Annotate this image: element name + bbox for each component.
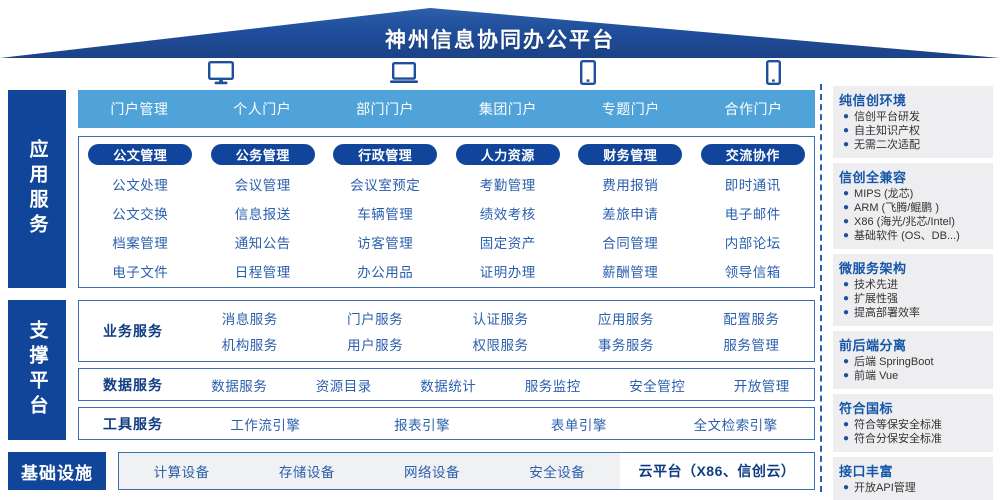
app-item[interactable]: 固定资产: [480, 232, 536, 252]
feature-item-label: 无需二次适配: [854, 138, 920, 152]
app-category-pill[interactable]: 财务管理: [578, 144, 682, 165]
app-item[interactable]: 薪酬管理: [602, 261, 658, 281]
infra-cell-cloud-platform[interactable]: 云平台（X86、信创云）: [620, 453, 814, 489]
rail-infrastructure-label: 基础设施: [21, 459, 93, 484]
feature-item-label: 技术先进: [854, 278, 898, 292]
support-cell[interactable]: 资源目录: [292, 372, 397, 398]
support-cell-line: 消息服务 门户服务 认证服务 应用服务 配置服务: [187, 305, 814, 331]
bullet-icon: ●: [843, 292, 849, 306]
feature-item-label: 符合分保安全标准: [854, 432, 942, 446]
portal-bar: 门户管理 个人门户 部门门户 集团门户 专题门户 合作门户: [78, 90, 815, 128]
feature-item: ●后端 SpringBoot: [839, 355, 987, 369]
feature-item-label: 前端 Vue: [854, 369, 898, 383]
feature-item-label: 开放API管理: [854, 481, 916, 495]
support-cell[interactable]: 消息服务: [187, 305, 312, 331]
feature-item-label: 提高部署效率: [854, 306, 920, 320]
support-cell[interactable]: 数据统计: [396, 372, 501, 398]
app-item[interactable]: 档案管理: [112, 232, 168, 252]
app-item[interactable]: 信息报送: [235, 203, 291, 223]
bullet-icon: ●: [843, 110, 849, 124]
app-item[interactable]: 办公用品: [357, 261, 413, 281]
support-cell[interactable]: 用户服务: [312, 331, 437, 357]
feature-block-1: 信创全兼容 ●MIPS (龙芯) ●ARM (飞腾/鲲鹏 ) ●X86 (海光/…: [833, 163, 993, 249]
app-item[interactable]: 考勤管理: [480, 174, 536, 194]
bullet-icon: ●: [843, 201, 849, 215]
tablet-icon: [580, 60, 596, 90]
app-item[interactable]: 会议室预定: [350, 174, 420, 194]
feature-item-label: 基础软件 (OS、DB...): [854, 229, 960, 243]
feature-item-label: 信创平台研发: [854, 110, 920, 124]
app-column-0: 公文管理 公文处理 公文交换 档案管理 电子文件: [79, 137, 202, 287]
dashed-divider: [820, 84, 822, 492]
feature-block-4: 符合国标 ●符合等保安全标准 ●符合分保安全标准: [833, 394, 993, 452]
support-row-business-services: 业务服务 消息服务 门户服务 认证服务 应用服务 配置服务 机构服务 用户服务 …: [78, 300, 815, 362]
support-cell[interactable]: 认证服务: [438, 305, 563, 331]
support-cell[interactable]: 机构服务: [187, 331, 312, 357]
portal-item-0[interactable]: 门户管理: [78, 99, 201, 119]
support-cell-line: 数据服务 资源目录 数据统计 服务监控 安全管控 开放管理: [187, 372, 814, 398]
rail-support-platform-label: 支撑平台: [24, 320, 51, 420]
feature-item: ●提高部署效率: [839, 306, 987, 320]
app-category-pill[interactable]: 行政管理: [333, 144, 437, 165]
rail-infrastructure: 基础设施: [8, 452, 106, 490]
infra-cell-storage[interactable]: 存储设备: [244, 453, 369, 489]
feature-item: ●符合等保安全标准: [839, 418, 987, 432]
infra-cell-network[interactable]: 网络设备: [369, 453, 494, 489]
feature-panel: 纯信创环境 ●信创平台研发 ●自主知识产权 ●无需二次适配 信创全兼容 ●MIP…: [833, 86, 993, 500]
support-row-tool-services: 工具服务 工作流引擎 报表引擎 表单引擎 全文检索引擎: [78, 407, 815, 440]
bullet-icon: ●: [843, 138, 849, 152]
support-cell[interactable]: 服务管理: [689, 331, 814, 357]
phone-icon: [766, 60, 781, 90]
feature-item: ●信创平台研发: [839, 110, 987, 124]
feature-title: 前后端分离: [839, 335, 987, 354]
support-cell[interactable]: 事务服务: [563, 331, 688, 357]
feature-title: 接口丰富: [839, 461, 987, 480]
app-item[interactable]: 公文交换: [112, 203, 168, 223]
bullet-icon: ●: [843, 481, 849, 495]
support-row-label: 数据服务: [79, 375, 187, 395]
feature-item: ●前端 Vue: [839, 369, 987, 383]
feature-item-label: ARM (飞腾/鲲鹏 ): [854, 201, 939, 215]
feature-item: ●无需二次适配: [839, 138, 987, 152]
app-item[interactable]: 差旅申请: [602, 203, 658, 223]
feature-title: 符合国标: [839, 398, 987, 417]
feature-title: 纯信创环境: [839, 90, 987, 109]
feature-item-label: 符合等保安全标准: [854, 418, 942, 432]
app-category-pill[interactable]: 公文管理: [88, 144, 192, 165]
support-row-cells: 工作流引擎 报表引擎 表单引擎 全文检索引擎: [187, 411, 814, 437]
support-cell[interactable]: 服务监控: [501, 372, 606, 398]
title-banner: 神州信息协同办公平台: [0, 8, 1000, 58]
support-cell[interactable]: 门户服务: [312, 305, 437, 331]
app-item[interactable]: 即时通讯: [725, 174, 781, 194]
feature-item: ●X86 (海光/兆芯/Intel): [839, 215, 987, 229]
infra-cell-security[interactable]: 安全设备: [495, 453, 620, 489]
portal-item-5[interactable]: 合作门户: [692, 99, 815, 119]
support-cell[interactable]: 报表引擎: [344, 411, 501, 437]
rail-application-services-label: 应用服务: [24, 139, 51, 239]
feature-block-5: 接口丰富 ●开放API管理: [833, 457, 993, 500]
app-item[interactable]: 访客管理: [357, 232, 413, 252]
bullet-icon: ●: [843, 124, 849, 138]
support-cell[interactable]: 配置服务: [689, 305, 814, 331]
app-item[interactable]: 费用报销: [602, 174, 658, 194]
app-item[interactable]: 会议管理: [235, 174, 291, 194]
rail-support-platform: 支撑平台: [8, 300, 66, 440]
infrastructure-row: 计算设备 存储设备 网络设备 安全设备 云平台（X86、信创云）: [118, 452, 815, 490]
app-item[interactable]: 电子文件: [112, 261, 168, 281]
feature-item-label: 自主知识产权: [854, 124, 920, 138]
app-item[interactable]: 车辆管理: [357, 203, 413, 223]
app-category-pill[interactable]: 人力资源: [456, 144, 560, 165]
app-column-5: 交流协作 即时通讯 电子邮件 内部论坛 领导信箱: [692, 137, 815, 287]
feature-block-0: 纯信创环境 ●信创平台研发 ●自主知识产权 ●无需二次适配: [833, 86, 993, 158]
app-item[interactable]: 合同管理: [602, 232, 658, 252]
architecture-diagram: 神州信息协同办公平台: [0, 0, 1000, 500]
app-item[interactable]: 内部论坛: [725, 232, 781, 252]
support-row-cells: 消息服务 门户服务 认证服务 应用服务 配置服务 机构服务 用户服务 权限服务 …: [187, 305, 814, 357]
bullet-icon: ●: [843, 418, 849, 432]
feature-item: ●开放API管理: [839, 481, 987, 495]
support-cell[interactable]: 工作流引擎: [187, 411, 344, 437]
app-category-pill[interactable]: 交流协作: [701, 144, 805, 165]
page-title: 神州信息协同办公平台: [0, 24, 1000, 54]
feature-item: ●符合分保安全标准: [839, 432, 987, 446]
app-item[interactable]: 电子邮件: [725, 203, 781, 223]
app-column-3: 人力资源 考勤管理 绩效考核 固定资产 证明办理: [447, 137, 570, 287]
bullet-icon: ●: [843, 306, 849, 320]
support-cell-line: 工作流引擎 报表引擎 表单引擎 全文检索引擎: [187, 411, 814, 437]
app-item[interactable]: 领导信箱: [725, 261, 781, 281]
support-row-label: 业务服务: [79, 321, 187, 341]
app-column-4: 财务管理 费用报销 差旅申请 合同管理 薪酬管理: [569, 137, 692, 287]
portal-item-1[interactable]: 个人门户: [201, 99, 324, 119]
bullet-icon: ●: [843, 432, 849, 446]
app-item[interactable]: 公文处理: [112, 174, 168, 194]
app-item[interactable]: 证明办理: [480, 261, 536, 281]
bullet-icon: ●: [843, 229, 849, 243]
feature-title: 信创全兼容: [839, 167, 987, 186]
support-cell[interactable]: 应用服务: [563, 305, 688, 331]
desktop-monitor-icon: [208, 61, 234, 90]
feature-item: ●MIPS (龙芯): [839, 187, 987, 201]
feature-item: ●ARM (飞腾/鲲鹏 ): [839, 201, 987, 215]
support-cell[interactable]: 全文检索引擎: [657, 411, 814, 437]
bullet-icon: ●: [843, 187, 849, 201]
bullet-icon: ●: [843, 369, 849, 383]
support-row-cells: 数据服务 资源目录 数据统计 服务监控 安全管控 开放管理: [187, 372, 814, 398]
bullet-icon: ●: [843, 278, 849, 292]
app-item[interactable]: 日程管理: [235, 261, 291, 281]
feature-item: ●自主知识产权: [839, 124, 987, 138]
bullet-icon: ●: [843, 355, 849, 369]
support-cell-line: 机构服务 用户服务 权限服务 事务服务 服务管理: [187, 331, 814, 357]
app-item[interactable]: 绩效考核: [480, 203, 536, 223]
feature-item: ●扩展性强: [839, 292, 987, 306]
app-category-pill[interactable]: 公务管理: [211, 144, 315, 165]
app-column-2: 行政管理 会议室预定 车辆管理 访客管理 办公用品: [324, 137, 447, 287]
support-cell[interactable]: 数据服务: [187, 372, 292, 398]
support-row-label: 工具服务: [79, 414, 187, 434]
feature-item: ●技术先进: [839, 278, 987, 292]
feature-item-label: 后端 SpringBoot: [854, 355, 933, 369]
feature-block-2: 微服务架构 ●技术先进 ●扩展性强 ●提高部署效率: [833, 254, 993, 326]
support-cell[interactable]: 权限服务: [438, 331, 563, 357]
support-cell[interactable]: 表单引擎: [501, 411, 658, 437]
feature-item-label: MIPS (龙芯): [854, 187, 913, 201]
app-item[interactable]: 通知公告: [235, 232, 291, 252]
support-cell[interactable]: 安全管控: [605, 372, 710, 398]
feature-item-label: X86 (海光/兆芯/Intel): [854, 215, 955, 229]
portal-item-2[interactable]: 部门门户: [324, 99, 447, 119]
feature-item: ●基础软件 (OS、DB...): [839, 229, 987, 243]
device-icon-strip: [80, 60, 815, 90]
portal-item-3[interactable]: 集团门户: [446, 99, 569, 119]
feature-title: 微服务架构: [839, 258, 987, 277]
application-services-grid: 公文管理 公文处理 公文交换 档案管理 电子文件 公务管理 会议管理 信息报送 …: [78, 136, 815, 288]
portal-item-4[interactable]: 专题门户: [569, 99, 692, 119]
support-row-data-services: 数据服务 数据服务 资源目录 数据统计 服务监控 安全管控 开放管理: [78, 368, 815, 401]
support-cell[interactable]: 开放管理: [710, 372, 815, 398]
laptop-icon: [390, 62, 418, 90]
bullet-icon: ●: [843, 215, 849, 229]
feature-block-3: 前后端分离 ●后端 SpringBoot ●前端 Vue: [833, 331, 993, 389]
infra-cell-compute[interactable]: 计算设备: [119, 453, 244, 489]
rail-application-services: 应用服务: [8, 90, 66, 288]
app-column-1: 公务管理 会议管理 信息报送 通知公告 日程管理: [202, 137, 325, 287]
feature-item-label: 扩展性强: [854, 292, 898, 306]
